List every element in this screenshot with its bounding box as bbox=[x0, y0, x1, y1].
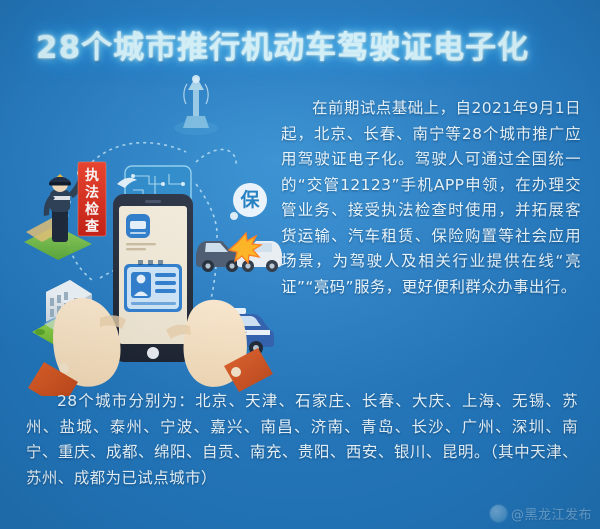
svg-text:执: 执 bbox=[85, 167, 99, 184]
svg-text:法: 法 bbox=[85, 184, 99, 201]
watermark-text: @黑龙江发布 bbox=[511, 504, 592, 523]
watermark-logo-icon bbox=[490, 505, 507, 522]
poster-root: 执 法 检 查 bbox=[0, 0, 600, 529]
main-paragraph: 在前期试点基础上，自2021年9月1日起，北京、长春、南宁等28个城市推广应用驾… bbox=[281, 96, 581, 300]
driver-license-card bbox=[124, 260, 182, 312]
watermark: @黑龙江发布 bbox=[490, 504, 592, 523]
cities-paragraph: 28个城市分别为：北京、天津、石家庄、长春、大庆、上海、无锡、苏州、盐城、泰州、… bbox=[26, 389, 578, 491]
svg-text:检: 检 bbox=[85, 201, 99, 218]
enforcement-sign: 执 法 检 查 bbox=[78, 162, 106, 236]
police-officer-icon: 执 法 检 查 bbox=[24, 162, 106, 260]
svg-text:查: 查 bbox=[85, 218, 100, 235]
illustration-group: 执 法 检 查 bbox=[0, 66, 282, 396]
car-collision-icon: 保 bbox=[196, 183, 282, 272]
satellite-tower-icon bbox=[174, 75, 218, 135]
svg-text:保: 保 bbox=[239, 188, 260, 211]
smartphone bbox=[113, 194, 193, 362]
page-title: 28个城市推行机动车驾驶证电子化 bbox=[36, 26, 556, 70]
insurance-bubble: 保 bbox=[230, 183, 267, 220]
left-hand bbox=[28, 298, 126, 396]
